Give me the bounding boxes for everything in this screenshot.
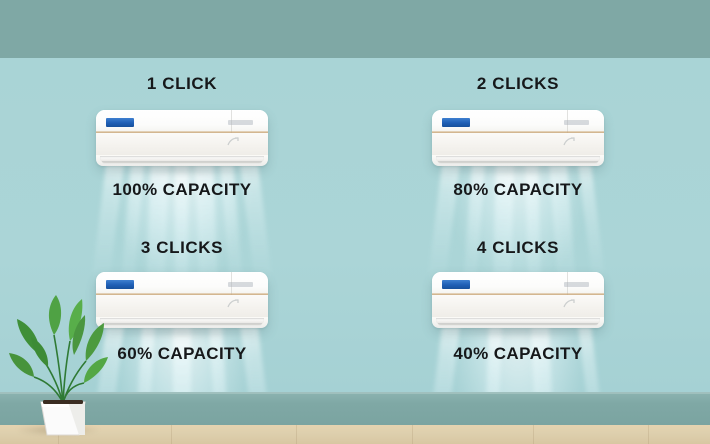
ac-front-panel [96,295,268,317]
floor-plank-line [412,425,413,444]
plant-pot [41,400,85,435]
click-count-label: 2 CLICKS [398,74,638,94]
ac-model-text [564,120,588,125]
ac-body [432,110,604,166]
ac-louver-shadow [102,161,262,164]
ac-front-panel [432,295,604,317]
capacity-label: 100% CAPACITY [42,180,322,200]
ac-body [432,272,604,328]
click-count-label: 4 CLICKS [398,238,638,258]
air-swing-icon [562,136,576,148]
floor-plank-line [648,425,649,444]
click-count-label: 1 CLICK [62,74,302,94]
ac-louver-shadow [438,161,598,164]
floor-plank-line [296,425,297,444]
convertible-cooling-infographic: 1 CLICK100% CAPACITY2 CLICKS80% CAPACITY… [0,0,710,444]
ac-body [96,110,268,166]
air-conditioner-unit [96,272,268,328]
brand-logo [442,118,470,126]
ac-model-text [564,282,588,287]
brand-logo [106,118,134,126]
capacity-label: 40% CAPACITY [378,344,658,364]
air-conditioner-unit [432,272,604,328]
ac-model-text [228,120,252,125]
click-count-label: 3 CLICKS [62,238,302,258]
ac-louver-shadow [102,323,262,326]
ac-front-panel [96,133,268,155]
air-conditioner-unit [432,110,604,166]
ac-louver-shadow [438,323,598,326]
air-conditioner-unit [96,110,268,166]
ac-model-text [228,282,252,287]
floor-plank-line [533,425,534,444]
air-swing-icon [226,298,240,310]
header-banner [0,0,710,58]
brand-logo [442,280,470,288]
capacity-label: 80% CAPACITY [378,180,658,200]
floor-plank-line [171,425,172,444]
air-swing-icon [562,298,576,310]
plant-leaf-blades [9,295,108,383]
ac-body [96,272,268,328]
ac-front-panel [432,133,604,155]
air-swing-icon [226,136,240,148]
capacity-label: 60% CAPACITY [42,344,322,364]
